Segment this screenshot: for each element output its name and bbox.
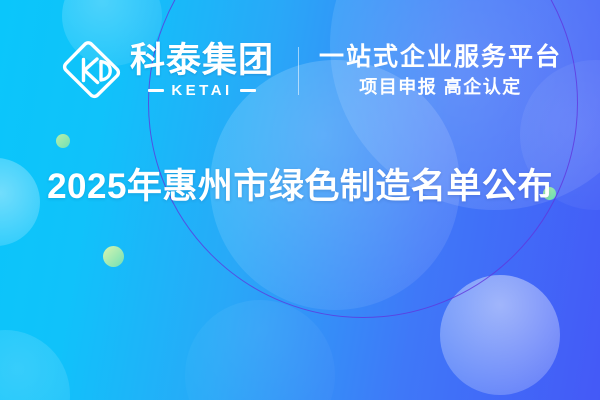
tagline-secondary: 项目申报 高企认定 bbox=[319, 75, 562, 99]
brand-wordmark: 科泰集团 KETAI bbox=[130, 43, 274, 99]
ketai-diamond-kd-monogram-logo-icon bbox=[60, 39, 124, 103]
brand-name-en: KETAI bbox=[171, 82, 232, 99]
decorative-dot-green-upper bbox=[56, 134, 70, 148]
promo-banner: 科泰集团 KETAI 一站式企业服务平台 项目申报 高企认定 2025年惠州市绿… bbox=[0, 0, 600, 400]
banner-header: 科泰集团 KETAI 一站式企业服务平台 项目申报 高企认定 bbox=[60, 32, 562, 110]
brand-logo-lockup: 科泰集团 KETAI bbox=[60, 39, 274, 103]
decorative-circle-bottom-left bbox=[0, 330, 70, 400]
banner-title: 2025年惠州市绿色制造名单公布 bbox=[0, 158, 600, 209]
tagline-primary: 一站式企业服务平台 bbox=[319, 43, 562, 73]
wordmark-rule-left-icon bbox=[148, 89, 164, 92]
decorative-dot-green-lower bbox=[103, 246, 124, 267]
brand-name-en-row: KETAI bbox=[148, 82, 255, 99]
tagline-block: 一站式企业服务平台 项目申报 高企认定 bbox=[319, 43, 562, 100]
decorative-circle-bottom-mid bbox=[185, 300, 335, 400]
wordmark-rule-right-icon bbox=[240, 89, 256, 92]
header-divider bbox=[298, 47, 299, 95]
brand-name-cn: 科泰集团 bbox=[130, 43, 274, 80]
